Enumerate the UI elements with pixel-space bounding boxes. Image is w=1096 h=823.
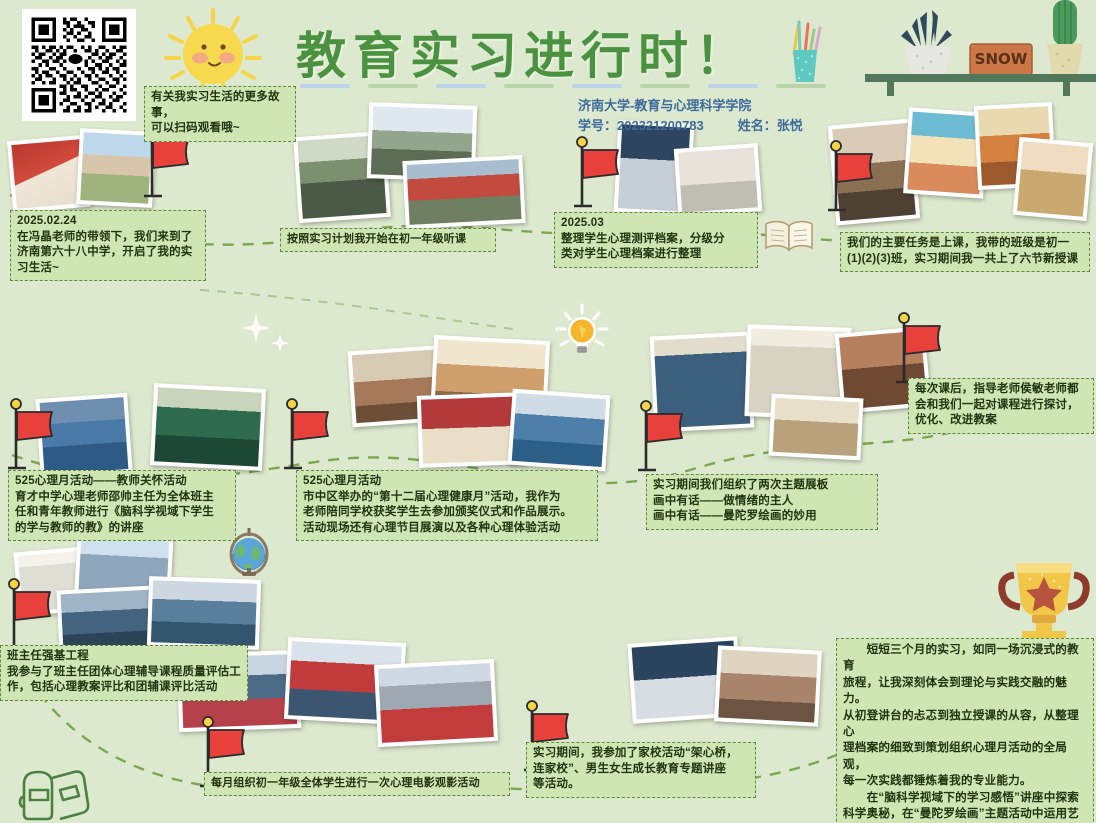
qr-code[interactable] bbox=[22, 9, 136, 121]
note-2: 按照实习计划我开始在初一年级听课 bbox=[280, 228, 496, 252]
note-7: 525心理月活动 市中区举办的“第十二届心理健康月”活动，我作为 老师陪同学校获… bbox=[296, 470, 598, 541]
trophy-icon bbox=[996, 553, 1092, 644]
school-name: 济南大学-教育与心理科学学院 bbox=[578, 96, 803, 116]
svg-text:SNOW: SNOW bbox=[975, 50, 1028, 68]
shelf-decoration: SNOW bbox=[865, 0, 1096, 96]
title-underline bbox=[776, 84, 826, 88]
cactus-plant bbox=[1047, 0, 1083, 74]
open-book-icon bbox=[763, 218, 815, 259]
red-flag-marker bbox=[638, 400, 684, 483]
lightbulb-icon bbox=[553, 303, 611, 370]
red-flag-marker bbox=[8, 398, 54, 481]
photo-display-board-4 bbox=[768, 394, 863, 461]
note-11: 实习期间，我参加了家校活动“架心桥， 连家校”、男生女生成长教育专题讲座 等活动… bbox=[526, 742, 756, 798]
photo-classroom-3 bbox=[402, 155, 525, 229]
note-6: 525心理月活动——教师关怀活动 育才中学心理老师邵帅主任为全体班主 任和青年教… bbox=[8, 470, 236, 541]
student-id: 学号：202321200783 bbox=[578, 116, 704, 136]
photo-evaluation-4 bbox=[147, 576, 261, 650]
red-flag-marker bbox=[284, 398, 330, 481]
red-flag-marker bbox=[828, 140, 874, 223]
conclusion-note: 短短三个月的实习，如同一场沉浸式的教育 旅程，让我深刻体会到理论与实践交融的魅力… bbox=[836, 638, 1094, 823]
photo-family-school-2 bbox=[714, 645, 822, 726]
note-1: 2025.02.24 在冯晶老师的带领下，我们来到了 济南第六十八中学，开启了我… bbox=[10, 210, 206, 281]
photo-movie-3 bbox=[374, 659, 498, 747]
note-9: 班主任强基工程 我参与了班主任团体心理辅导课程质量评估工 作，包括心理教案评比和… bbox=[0, 645, 248, 701]
photo-teaching-4 bbox=[1013, 137, 1094, 221]
backpack-icon bbox=[14, 762, 96, 823]
author-info: 济南大学-教育与心理科学学院 学号：202321200783 姓名：张悦 bbox=[578, 96, 803, 136]
note-4: 我们的主要任务是上课，我带的班级是初一 (1)(2)(3)班，实习期间我一共上了… bbox=[840, 232, 1090, 272]
qr-note: 有关我实习生活的更多故事， 可以扫码观看哦~ bbox=[144, 86, 296, 142]
photo-month-activity-4 bbox=[507, 389, 610, 472]
red-flag-marker bbox=[574, 136, 620, 219]
sun-icon bbox=[148, 6, 278, 98]
student-name: 姓名：张悦 bbox=[738, 116, 803, 136]
infographic-poster: 教育实习进行时！ 济南大学-教育与心理科学学院 学号：202321200783 … bbox=[0, 0, 1096, 823]
note-5: 每次课后，指导老师侯敏老师都 会和我们一起对课程进行探讨， 优化、改进教案 bbox=[908, 378, 1094, 434]
sparkle-icon bbox=[236, 310, 298, 367]
note-10: 每月组织初一年级全体学生进行一次心理电影观影活动 bbox=[204, 772, 510, 796]
photo-archive-2 bbox=[674, 143, 763, 217]
photo-activity-2 bbox=[150, 383, 266, 471]
snow-sign: SNOW bbox=[970, 44, 1032, 75]
page-title: 教育实习进行时！ bbox=[296, 16, 752, 88]
succulent-plant bbox=[901, 10, 952, 74]
pencil-cup-icon bbox=[782, 18, 828, 88]
note-3: 2025.03 整理学生心理测评档案，分级分 类对学生心理档案进行整理 bbox=[554, 212, 758, 268]
note-8: 实习期间我们组织了两次主题展板 画中有话——做情绪的主人 画中有话——曼陀罗绘画… bbox=[646, 474, 878, 530]
